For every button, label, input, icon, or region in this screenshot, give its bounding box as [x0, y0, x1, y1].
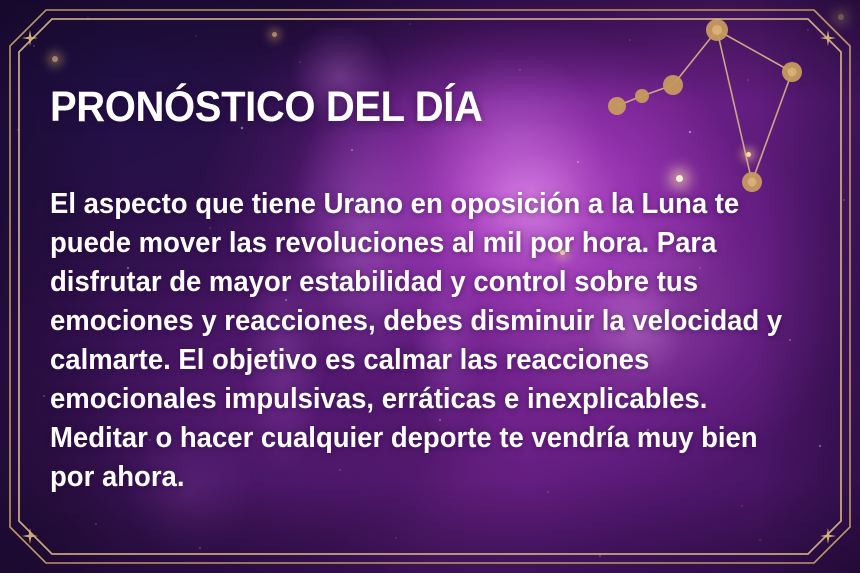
- sparkle-icon: [820, 528, 836, 544]
- bright-star-icon: [838, 14, 844, 20]
- sparkle-icon: [22, 30, 38, 46]
- bright-star-icon: [272, 32, 277, 37]
- card-content: PRONÓSTICO DEL DÍA El aspecto que tiene …: [50, 86, 850, 497]
- page-title: PRONÓSTICO DEL DÍA: [50, 86, 794, 129]
- bright-star-icon: [52, 56, 58, 62]
- sparkle-icon: [820, 30, 836, 46]
- sparkle-icon: [22, 528, 38, 544]
- forecast-body-text: El aspecto que tiene Urano en oposición …: [50, 185, 783, 497]
- horoscope-card: PRONÓSTICO DEL DÍA El aspecto que tiene …: [0, 0, 860, 573]
